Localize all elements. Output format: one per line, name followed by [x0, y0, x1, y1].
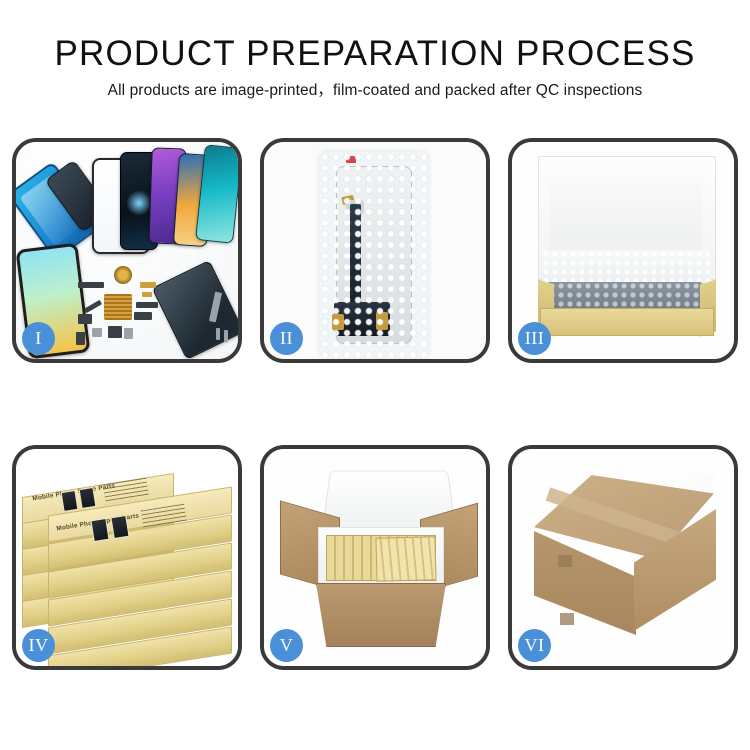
carton-label-lower: [560, 613, 574, 625]
carton-label-upper: [558, 555, 572, 567]
gold-flex-part: [140, 282, 156, 288]
panel-badge-1: I: [22, 322, 55, 355]
bubble-texture-overlay: [320, 152, 428, 357]
panel-bubble-wrap: II: [260, 138, 490, 363]
panel-badge-5: V: [270, 629, 303, 662]
bubble-wrap-bag: [320, 152, 428, 357]
panel-sealed-carton-image: VI: [512, 449, 734, 666]
panel-badge-4: IV: [22, 629, 55, 662]
panel-stacked-boxes-image: Mobile Phone Spare Parts Mobile Phone Sp…: [16, 449, 238, 666]
page-title: PRODUCT PREPARATION PROCESS: [0, 34, 750, 74]
box-print-phone: [90, 518, 109, 542]
screw-part: [224, 330, 228, 342]
carton-body: [316, 583, 446, 647]
vibration-motor-part: [114, 266, 132, 284]
screw-part: [216, 328, 220, 340]
panel-sealed-carton: VI: [508, 445, 738, 670]
antenna-strip-part: [136, 302, 158, 308]
earpiece-mesh-part: [78, 282, 104, 288]
header: PRODUCT PREPARATION PROCESS All products…: [0, 34, 750, 101]
battery-connector-part: [76, 332, 85, 345]
panel-badge-2: II: [270, 322, 303, 355]
yellow-boxes-bundle: [375, 536, 436, 582]
panel-stacked-boxes: Mobile Phone Spare Parts Mobile Phone Sp…: [12, 445, 242, 670]
panel-foam-box-image: III: [512, 142, 734, 359]
box-print-phone: [61, 490, 79, 512]
sim-tray-part: [124, 328, 133, 339]
panel-carton-filling-image: V: [264, 449, 486, 666]
camera-module-part: [78, 314, 92, 324]
button-part: [108, 326, 122, 338]
page-subtitle: All products are image-printed，film-coat…: [0, 81, 750, 101]
panel-badge-6: VI: [518, 629, 551, 662]
panel-raw-parts: I: [12, 138, 242, 363]
infographic-page: PRODUCT PREPARATION PROCESS All products…: [0, 0, 750, 750]
box-stack: Mobile Phone Spare Parts Mobile Phone Sp…: [20, 467, 238, 657]
box-print-phone: [79, 487, 97, 509]
chip-grid-part: [104, 294, 132, 320]
panel-badge-3: III: [518, 322, 551, 355]
flex-cable-part: [84, 300, 102, 313]
panel-foam-box: III: [508, 138, 738, 363]
phone-back-housing: [152, 260, 238, 359]
box-tray-front-wall: [540, 308, 714, 336]
panel-raw-parts-image: I: [16, 142, 238, 359]
panel-carton-filling: V: [260, 445, 490, 670]
speaker-part: [92, 328, 102, 337]
connector-block-part: [134, 312, 152, 320]
process-panel-grid: I II: [12, 138, 738, 670]
gold-contact-part: [142, 292, 152, 297]
box-print-phone: [110, 515, 129, 539]
panel-bubble-wrap-image: II: [264, 142, 486, 359]
